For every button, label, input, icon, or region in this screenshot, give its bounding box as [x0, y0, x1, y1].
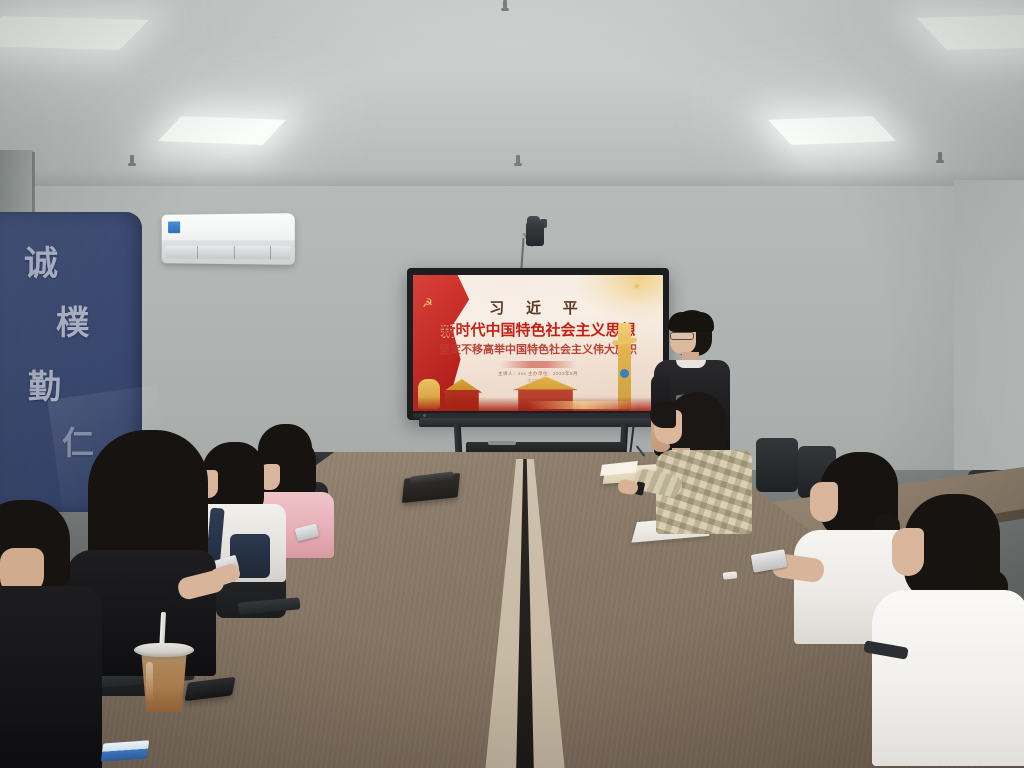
conference-room-photo: 诚 樸 勤 仁 ☭ ★ 习 近 平 新时代中国特色社会主义思想 坚定不移高举中国… — [0, 0, 1024, 768]
ceiling-light-1 — [0, 16, 149, 50]
cup-lid[interactable] — [134, 643, 194, 657]
shelf-device — [488, 441, 516, 445]
slide-footer-text-band — [528, 401, 638, 409]
glasses-icon — [670, 332, 694, 340]
notetaker-hair-front — [650, 402, 676, 428]
sprinkler-icon-2 — [516, 155, 520, 166]
banner-char-1: 诚 — [24, 236, 58, 285]
sprinkler-icon-4 — [938, 152, 942, 161]
huabiao-badge — [620, 369, 629, 378]
ac-vent — [165, 246, 290, 260]
display-screen: ☭ ★ 习 近 平 新时代中国特色社会主义思想 坚定不移高举中国特色社会主义伟大… — [413, 275, 663, 411]
ac-brand-label — [168, 221, 180, 233]
video-conference-camera — [526, 222, 544, 246]
banner-char-2: 樸 — [56, 296, 89, 344]
display-power-led — [423, 414, 426, 417]
ceiling-light-2 — [158, 116, 286, 145]
far-right-attendee-face — [810, 482, 838, 522]
cup-highlight — [146, 662, 153, 702]
presenter-collar — [676, 360, 706, 368]
sprinkler-icon-3 — [130, 155, 134, 163]
presenter-hair — [668, 312, 714, 332]
near-right-attendee-face — [892, 528, 924, 576]
ceiling-light-3 — [768, 116, 896, 145]
slide-title-main: 习 近 平 — [413, 297, 663, 318]
slide-divider — [500, 361, 576, 368]
person-attendee-white-tee-near — [878, 494, 1024, 768]
eraser[interactable] — [723, 571, 738, 579]
sprinkler-icon-1 — [503, 0, 507, 11]
near-right-attendee-top — [872, 590, 1024, 766]
foreground-attendee-top — [0, 586, 102, 768]
air-conditioner — [162, 213, 295, 265]
smart-display[interactable]: ☭ ★ 习 近 平 新时代中国特色社会主义思想 坚定不移高举中国特色社会主义伟大… — [407, 268, 669, 420]
gold-star-icon: ★ — [633, 281, 641, 292]
person-notetaker — [648, 392, 768, 542]
person-attendee-foreground-left — [0, 500, 124, 768]
ceiling — [0, 0, 1024, 196]
tissue-pack[interactable] — [101, 740, 149, 761]
ceiling-light-4 — [917, 14, 1024, 50]
